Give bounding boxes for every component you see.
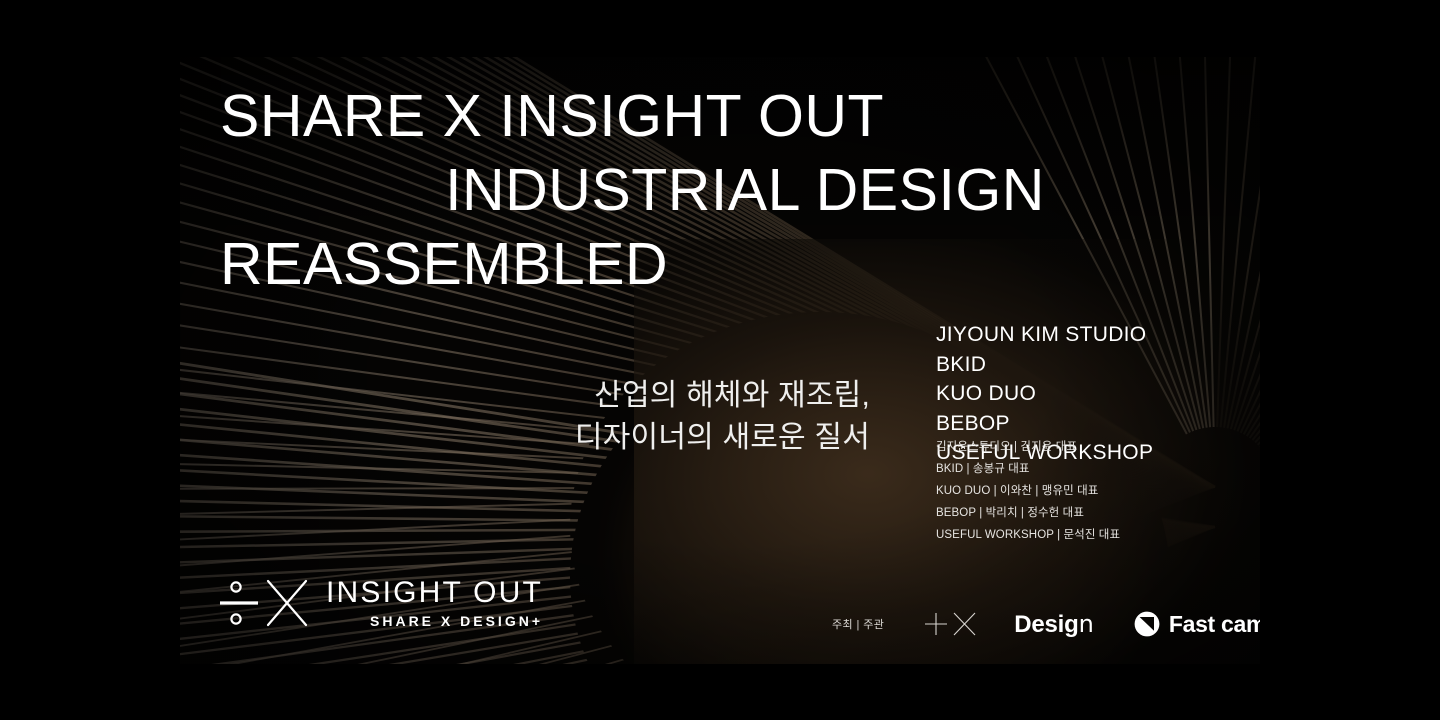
subtitle-line-2: 디자이너의 새로운 질서 xyxy=(330,417,870,459)
credit-item: 김지윤스튜디오 | 김지윤 대표 xyxy=(936,436,1120,458)
studio-item: KUO DUO xyxy=(936,379,1153,409)
subtitle: 산업의 해체와 재조립, 디자이너의 새로운 질서 xyxy=(330,375,870,459)
divide-x-icon xyxy=(218,575,308,631)
credit-item: BEBOP | 박리치 | 정수헌 대표 xyxy=(936,502,1120,524)
insight-out-title: INSIGHT OUT xyxy=(326,576,543,610)
design-wordmark: Design xyxy=(1014,610,1094,639)
footer-sponsors: 주최 | 주관 Design Fast campus xyxy=(832,602,1260,646)
insight-out-logo: INSIGHT OUT SHARE X DESIGN+ xyxy=(218,575,543,631)
insight-out-wordmark: INSIGHT OUT SHARE X DESIGN+ xyxy=(326,576,543,631)
screenshot-stage: SHARE X INSIGHT OUT INDUSTRIAL DESIGN RE… xyxy=(0,0,1440,720)
host-label: 주최 | 주관 xyxy=(832,616,884,632)
poster: SHARE X INSIGHT OUT INDUSTRIAL DESIGN RE… xyxy=(180,57,1260,664)
studio-item: JIYOUN KIM STUDIO xyxy=(936,320,1153,350)
studio-item: BEBOP xyxy=(936,409,1153,439)
plus-times-icon xyxy=(922,607,978,641)
studio-item: BKID xyxy=(936,350,1153,380)
credit-item: USEFUL WORKSHOP | 문석진 대표 xyxy=(936,524,1120,546)
subtitle-line-1: 산업의 해체와 재조립, xyxy=(330,375,870,417)
credit-item: BKID | 송봉규 대표 xyxy=(936,458,1120,480)
fastcampus-wordmark: Fast campus xyxy=(1169,611,1260,638)
credit-list: 김지윤스튜디오 | 김지윤 대표 BKID | 송봉규 대표 KUO DUO |… xyxy=(936,436,1120,546)
insight-out-subtitle: SHARE X DESIGN+ xyxy=(326,612,543,631)
credit-item: KUO DUO | 이와찬 | 맹유민 대표 xyxy=(936,480,1120,502)
design-wordmark-body: Desig xyxy=(1014,611,1078,639)
fastcampus-logo: Fast campus xyxy=(1134,611,1260,638)
fastcampus-swoosh-icon xyxy=(1134,611,1160,637)
design-wordmark-tail: n xyxy=(1079,610,1094,638)
